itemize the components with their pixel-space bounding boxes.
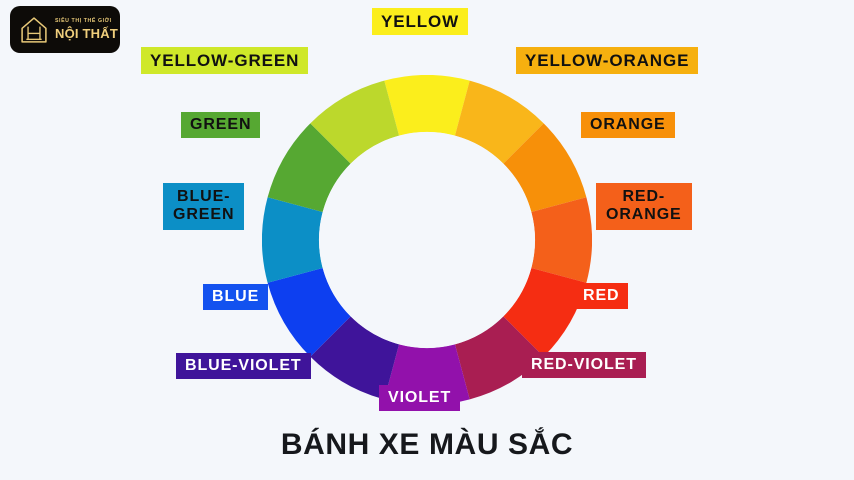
- color-label-yellow-orange[interactable]: YELLOW-ORANGE: [516, 47, 698, 74]
- color-label-line: ORANGE: [590, 116, 666, 134]
- color-label-line: BLUE: [212, 288, 259, 306]
- color-label-blue[interactable]: BLUE: [203, 284, 268, 310]
- wheel-hub: [319, 132, 535, 348]
- color-label-line: VIOLET: [388, 389, 451, 407]
- color-label-line: BLUE-: [173, 188, 234, 206]
- color-label-line: GREEN: [190, 116, 251, 134]
- wheel-segment-blue-green[interactable]: [262, 197, 323, 282]
- color-label-red-orange[interactable]: RED-ORANGE: [596, 183, 692, 230]
- color-label-yellow[interactable]: YELLOW: [372, 8, 468, 35]
- logo-name: NỘI THẤT: [55, 27, 118, 40]
- color-label-line: YELLOW: [381, 12, 459, 31]
- color-label-violet[interactable]: VIOLET: [379, 385, 460, 411]
- color-label-orange[interactable]: ORANGE: [581, 112, 675, 138]
- color-label-blue-violet[interactable]: BLUE-VIOLET: [176, 353, 311, 379]
- house-chair-icon: [17, 13, 51, 47]
- color-label-red-violet[interactable]: RED-VIOLET: [522, 352, 646, 378]
- color-label-line: RED-VIOLET: [531, 356, 637, 374]
- color-label-line: YELLOW-ORANGE: [525, 51, 689, 70]
- color-label-line: RED-: [606, 188, 682, 206]
- color-label-line: YELLOW-GREEN: [150, 51, 299, 70]
- color-label-red[interactable]: RED: [574, 283, 628, 309]
- color-label-line: GREEN: [173, 206, 234, 224]
- color-label-blue-green[interactable]: BLUE-GREEN: [163, 183, 244, 230]
- logo-tagline: SIÊU THỊ THẾ GIỚI: [55, 19, 118, 24]
- color-wheel-infographic: SIÊU THỊ THẾ GIỚI NỘI THẤT YELLOWYELLOW-…: [0, 0, 854, 480]
- brand-logo[interactable]: SIÊU THỊ THẾ GIỚI NỘI THẤT: [10, 6, 120, 53]
- color-label-line: ORANGE: [606, 206, 682, 224]
- wheel-segment-red-orange[interactable]: [531, 197, 592, 282]
- color-label-line: BLUE-VIOLET: [185, 357, 302, 375]
- color-label-yellow-green[interactable]: YELLOW-GREEN: [141, 47, 308, 74]
- color-label-green[interactable]: GREEN: [181, 112, 260, 138]
- color-label-line: RED: [583, 287, 619, 305]
- wheel-segment-yellow[interactable]: [384, 75, 469, 136]
- page-title: BÁNH XE MÀU SẮC: [0, 428, 854, 462]
